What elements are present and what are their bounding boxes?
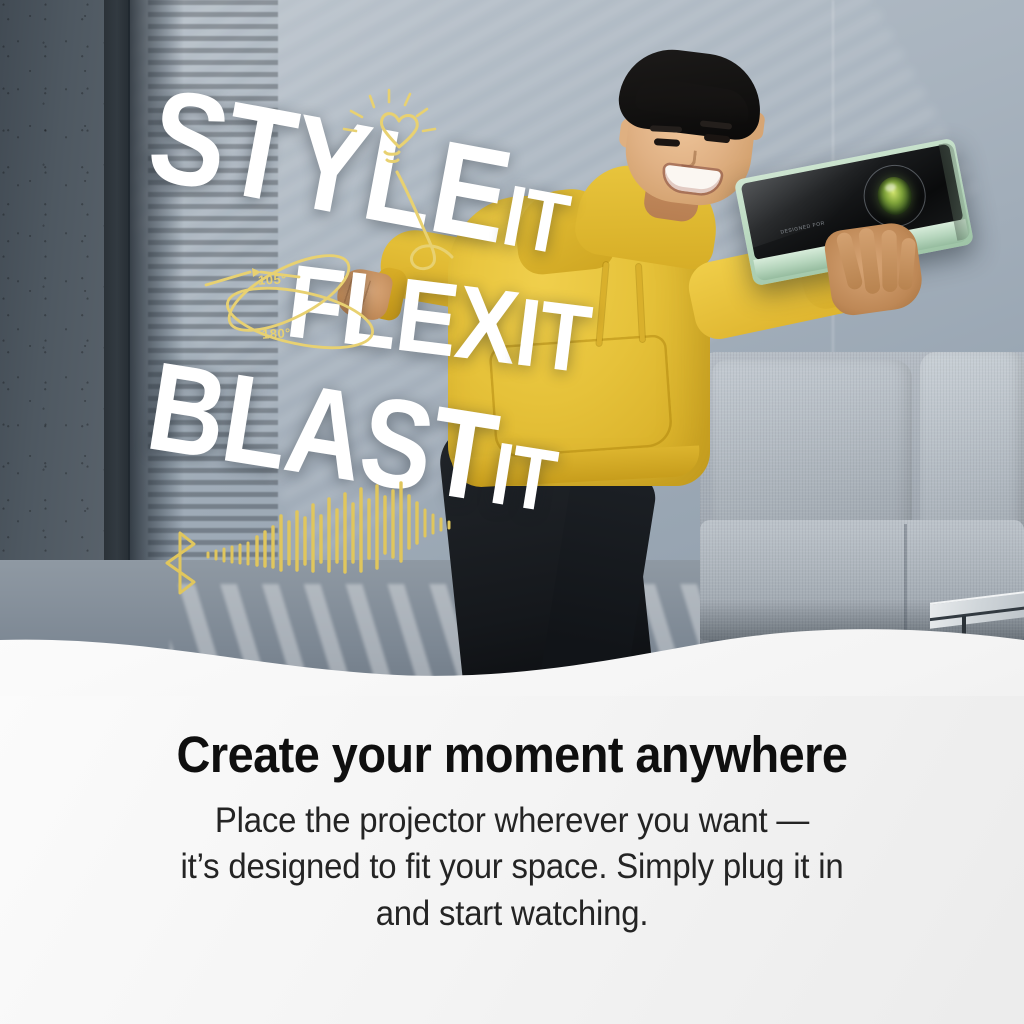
footer-body-line-2: it’s designed to fit your space. Simply … bbox=[31, 844, 994, 891]
footer-body-line-1: Place the projector wherever you want — bbox=[31, 798, 994, 845]
footer-body-line-3: and start watching. bbox=[31, 891, 994, 938]
hero-image: DESIGNED FOR STYLEIT FLEXIT BLASTIT bbox=[0, 0, 1024, 700]
person-finger-3 bbox=[881, 230, 897, 292]
person-holding-projector bbox=[0, 0, 1024, 700]
person-hoodie-pocket bbox=[488, 334, 673, 458]
ad-creative: DESIGNED FOR STYLEIT FLEXIT BLASTIT bbox=[0, 0, 1024, 1024]
footer-copy: Create your moment anywhere Place the pr… bbox=[0, 728, 1024, 938]
footer-headline: Create your moment anywhere bbox=[41, 728, 983, 782]
footer-body: Place the projector wherever you want — … bbox=[31, 798, 994, 939]
